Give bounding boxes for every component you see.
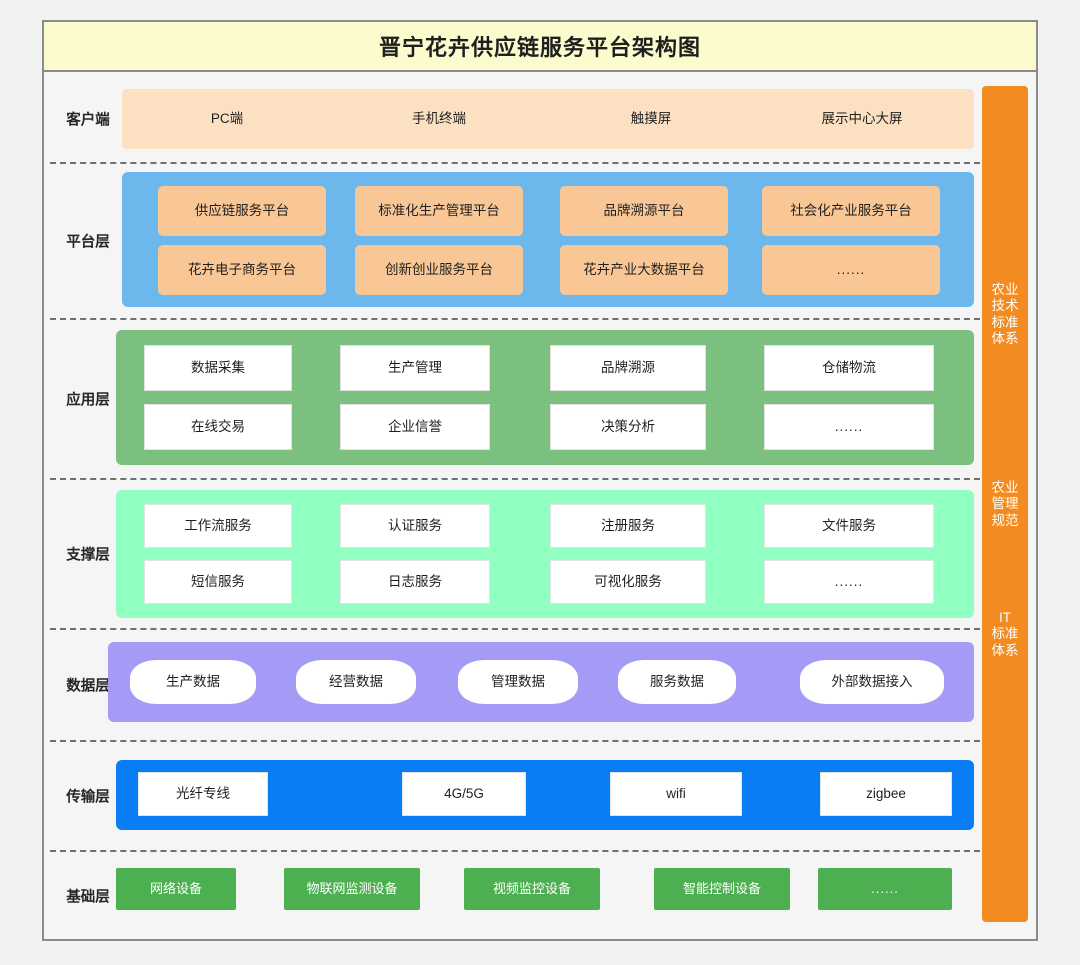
platform-item-innovation[interactable]: 创新创业服务平台 <box>355 245 523 295</box>
sidebar-item-agri-management-norm[interactable]: 农业管理规范 <box>982 480 1028 529</box>
layer-label-infrastructure: 基础层 <box>52 886 124 907</box>
sidebar-item-it-standard[interactable]: IT标准体系 <box>982 610 1028 659</box>
sidebar-item-agri-tech-standard[interactable]: 农业技术标准体系 <box>982 282 1028 348</box>
layer-label-support: 支撑层 <box>52 544 124 565</box>
data-item-production[interactable]: 生产数据 <box>130 660 256 704</box>
layer-label-application: 应用层 <box>52 389 124 410</box>
data-item-service[interactable]: 服务数据 <box>618 660 736 704</box>
application-band: 数据采集 生产管理 品牌溯源 仓储物流 在线交易 企业信誉 决策分析 .....… <box>116 330 974 465</box>
transport-item-zigbee[interactable]: zigbee <box>820 772 952 816</box>
platform-item-bigdata[interactable]: 花卉产业大数据平台 <box>560 245 728 295</box>
data-band: 生产数据 经营数据 管理数据 服务数据 外部数据接入 <box>108 642 974 722</box>
layer-row-support: 支撑层 工作流服务 认证服务 注册服务 文件服务 短信服务 日志服务 可视化服务… <box>44 480 1036 628</box>
diagram-canvas: 晋宁花卉供应链服务平台架构图 客户端 PC端 手机终端 触摸屏 展示中心大屏 平… <box>0 0 1080 965</box>
standards-sidebar: 农业技术标准体系 农业管理规范 IT标准体系 <box>982 86 1028 922</box>
platform-band: 供应链服务平台 标准化生产管理平台 品牌溯源平台 社会化产业服务平台 花卉电子商… <box>122 172 974 307</box>
platform-item-social-industry[interactable]: 社会化产业服务平台 <box>762 186 940 236</box>
platform-item-brand-trace[interactable]: 品牌溯源平台 <box>560 186 728 236</box>
layer-label-transport: 传输层 <box>52 786 124 807</box>
transport-band: 光纤专线 4G/5G wifi zigbee <box>116 760 974 830</box>
data-item-management[interactable]: 管理数据 <box>458 660 578 704</box>
client-item-pc[interactable]: PC端 <box>132 89 322 149</box>
infra-item-network-device[interactable]: 网络设备 <box>116 868 236 910</box>
page-title: 晋宁花卉供应链服务平台架构图 <box>379 30 701 62</box>
app-item-production-mgmt[interactable]: 生产管理 <box>340 345 490 391</box>
transport-item-wifi[interactable]: wifi <box>610 772 742 816</box>
app-item-warehouse-logistics[interactable]: 仓储物流 <box>764 345 934 391</box>
data-item-operation[interactable]: 经营数据 <box>296 660 416 704</box>
support-item-auth[interactable]: 认证服务 <box>340 504 490 548</box>
app-item-more[interactable]: ...... <box>764 404 934 450</box>
support-item-log[interactable]: 日志服务 <box>340 560 490 604</box>
app-item-brand-trace[interactable]: 品牌溯源 <box>550 345 706 391</box>
support-item-sms[interactable]: 短信服务 <box>144 560 292 604</box>
infrastructure-group: 网络设备 物联网监测设备 视频监控设备 智能控制设备 ...... <box>116 852 974 940</box>
diagram-frame: 晋宁花卉供应链服务平台架构图 客户端 PC端 手机终端 触摸屏 展示中心大屏 平… <box>42 20 1038 941</box>
app-item-online-trade[interactable]: 在线交易 <box>144 404 292 450</box>
transport-item-fiber[interactable]: 光纤专线 <box>138 772 268 816</box>
support-item-visualization[interactable]: 可视化服务 <box>550 560 706 604</box>
infra-item-smart-control[interactable]: 智能控制设备 <box>654 868 790 910</box>
layer-row-transport: 传输层 光纤专线 4G/5G wifi zigbee <box>44 742 1036 850</box>
layer-label-client: 客户端 <box>52 109 124 130</box>
support-item-file[interactable]: 文件服务 <box>764 504 934 548</box>
support-band: 工作流服务 认证服务 注册服务 文件服务 短信服务 日志服务 可视化服务 ...… <box>116 490 974 618</box>
transport-item-4g5g[interactable]: 4G/5G <box>402 772 526 816</box>
layer-row-infrastructure: 基础层 网络设备 物联网监测设备 视频监控设备 智能控制设备 ...... <box>44 852 1036 940</box>
support-item-more[interactable]: ...... <box>764 560 934 604</box>
support-item-workflow[interactable]: 工作流服务 <box>144 504 292 548</box>
infra-item-video-surveillance[interactable]: 视频监控设备 <box>464 868 600 910</box>
support-item-register[interactable]: 注册服务 <box>550 504 706 548</box>
client-band: PC端 手机终端 触摸屏 展示中心大屏 <box>122 89 974 149</box>
infra-item-iot-monitor[interactable]: 物联网监测设备 <box>284 868 420 910</box>
diagram-title-bar: 晋宁花卉供应链服务平台架构图 <box>44 22 1036 72</box>
platform-item-more[interactable]: ...... <box>762 245 940 295</box>
platform-item-standard-production[interactable]: 标准化生产管理平台 <box>355 186 523 236</box>
client-item-mobile[interactable]: 手机终端 <box>344 89 534 149</box>
layer-row-platform: 平台层 供应链服务平台 标准化生产管理平台 品牌溯源平台 社会化产业服务平台 花… <box>44 164 1036 318</box>
platform-item-supply-chain[interactable]: 供应链服务平台 <box>158 186 326 236</box>
layer-row-data: 数据层 生产数据 经营数据 管理数据 服务数据 外部数据接入 <box>44 630 1036 740</box>
data-item-external-access[interactable]: 外部数据接入 <box>800 660 944 704</box>
app-item-enterprise-credit[interactable]: 企业信誉 <box>340 404 490 450</box>
layer-label-platform: 平台层 <box>52 231 124 252</box>
layer-row-application: 应用层 数据采集 生产管理 品牌溯源 仓储物流 在线交易 企业信誉 决策分析 .… <box>44 320 1036 478</box>
platform-item-ecommerce[interactable]: 花卉电子商务平台 <box>158 245 326 295</box>
app-item-decision-analysis[interactable]: 决策分析 <box>550 404 706 450</box>
infra-item-more[interactable]: ...... <box>818 868 952 910</box>
client-item-bigscreen[interactable]: 展示中心大屏 <box>762 89 962 149</box>
layer-row-client: 客户端 PC端 手机终端 触摸屏 展示中心大屏 <box>44 74 1036 164</box>
app-item-data-collect[interactable]: 数据采集 <box>144 345 292 391</box>
client-item-touchscreen[interactable]: 触摸屏 <box>556 89 746 149</box>
